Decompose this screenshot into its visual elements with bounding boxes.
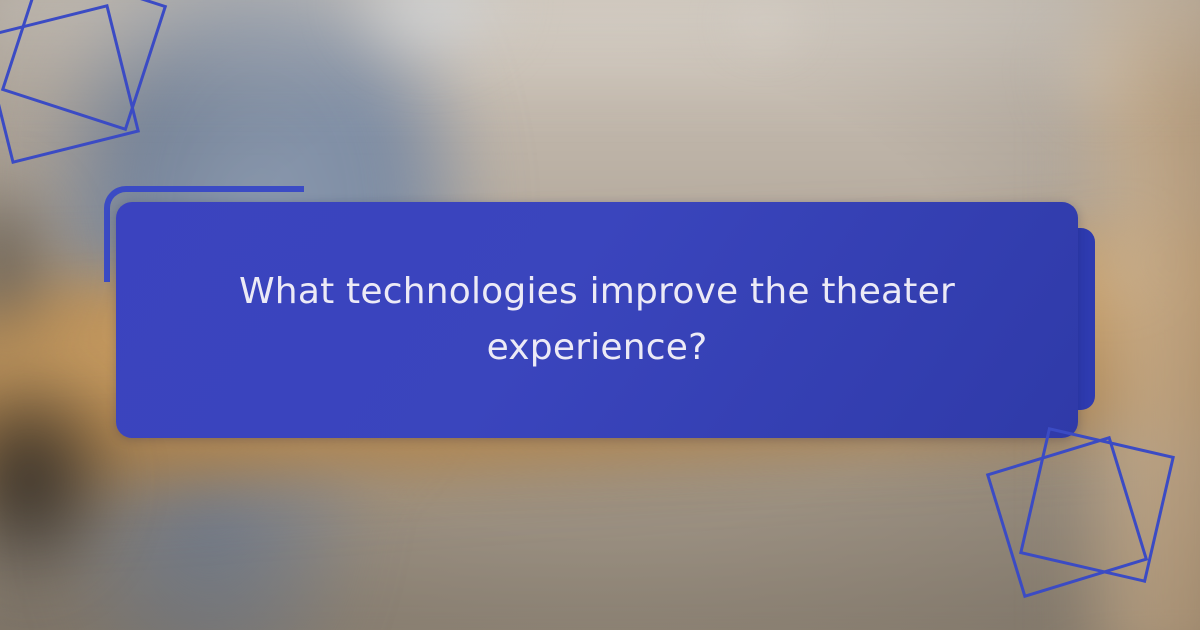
social-card-image: What technologies improve the theater ex… <box>0 0 1200 630</box>
question-card: What technologies improve the theater ex… <box>116 202 1078 438</box>
question-title: What technologies improve the theater ex… <box>217 264 977 376</box>
